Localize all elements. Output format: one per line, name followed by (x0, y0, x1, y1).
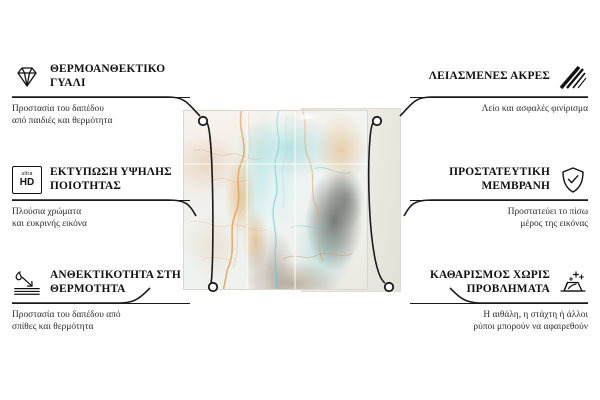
feature-title: ΘΕΡΜΟΑΝΘΕΚΤΙΚΟ ΓΥΑΛΙ (50, 63, 190, 90)
feature-divider (12, 97, 190, 98)
flame-surface-icon (12, 268, 42, 298)
infographic-page: ΘΕΡΜΟΑΝΘΕΚΤΙΚΟ ΓΥΑΛΙ Προστασία του δαπέδ… (0, 0, 600, 400)
feature-title: ΑΝΘΕΚΤΙΚΟΤΗΤΑ ΣΤΗ ΘΕΡΜΟΤΗΤΑ (50, 269, 190, 296)
feature-protective-membrane: ΠΡΟΣΤΑΤΕΥΤΙΚΗ ΜΕΜΒΡΑΝΗ Προστατεύει το πί… (410, 163, 588, 230)
glass-reflection-line (184, 163, 367, 165)
feature-title: ΚΑΘΑΡΙΣΜΟΣ ΧΩΡΙΣ ΠΡΟΒΛΗΜΑΤΑ (410, 269, 550, 296)
feature-smoothed-edges: ΛΕΙΑΣΜΕΝΕΣ ΑΚΡΕΣ Λείο και ασφαλές φινίρι… (410, 60, 588, 115)
feature-header: ΑΝΘΕΚΤΙΚΟΤΗΤΑ ΣΤΗ ΘΕΡΜΟΤΗΤΑ (12, 266, 190, 300)
feature-description: Λείο και ασφαλές φινίρισμα (410, 103, 588, 115)
feature-header: ΚΑΘΑΡΙΣΜΟΣ ΧΩΡΙΣ ΠΡΟΒΛΗΜΑΤΑ (410, 266, 588, 300)
shield-check-icon (558, 165, 588, 195)
feature-header: ultra HD ΕΚΤΥΠΩΣΗ ΥΨΗΛΗΣ ΠΟΙΟΤΗΤΑΣ (12, 163, 190, 197)
feature-description: Προστατεύει το πίσωμέρος της εικόνας (410, 206, 588, 230)
feature-heat-durability: ΑΝΘΕΚΤΙΚΟΤΗΤΑ ΣΤΗ ΘΕΡΜΟΤΗΤΑ Προστασία το… (12, 266, 190, 333)
feature-title: ΠΡΟΣΤΑΤΕΥΤΙΚΗ ΜΕΜΒΡΑΝΗ (410, 166, 550, 193)
feature-high-quality-print: ultra HD ΕΚΤΥΠΩΣΗ ΥΨΗΛΗΣ ΠΟΙΟΤΗΤΑΣ Πλούσ… (12, 163, 190, 230)
glass-reflection-line (294, 111, 296, 289)
feature-description: Προστασία του δαπέδου απόσπίθες και θερμ… (12, 309, 190, 333)
feature-heat-resistant-glass: ΘΕΡΜΟΑΝΘΕΚΤΙΚΟ ΓΥΑΛΙ Προστασία του δαπέδ… (12, 60, 190, 127)
feature-description: Η αιθάλη, η στάχτη ή άλλοιρύποι μπορούν … (410, 309, 588, 333)
feature-header: ΛΕΙΑΣΜΕΝΕΣ ΑΚΡΕΣ (410, 60, 588, 94)
diamond-icon (12, 62, 42, 92)
feature-divider (410, 200, 588, 201)
feature-easy-cleaning: ΚΑΘΑΡΙΣΜΟΣ ΧΩΡΙΣ ΠΡΟΒΛΗΜΑΤΑ Η αιθάλη, η … (410, 266, 588, 333)
feature-description: Προστασία του δαπέδουαπό παιδιές και θερ… (12, 103, 190, 127)
glass-highlight (294, 113, 320, 121)
feature-divider (410, 303, 588, 304)
glass-reflection-line (246, 111, 248, 289)
feature-header: ΘΕΡΜΟΑΝΘΕΚΤΙΚΟ ΓΥΑΛΙ (12, 60, 190, 94)
diagonal-stripes-icon (558, 62, 588, 92)
sponge-sparkle-icon (558, 268, 588, 298)
feature-title: ΛΕΙΑΣΜΕΝΕΣ ΑΚΡΕΣ (410, 70, 550, 84)
ultra-hd-icon: ultra HD (12, 165, 42, 195)
feature-title: ΕΚΤΥΠΩΣΗ ΥΨΗΛΗΣ ΠΟΙΟΤΗΤΑΣ (50, 166, 190, 193)
feature-divider (12, 200, 190, 201)
feature-divider (12, 303, 190, 304)
feature-header: ΠΡΟΣΤΑΤΕΥΤΙΚΗ ΜΕΜΒΡΑΝΗ (410, 163, 588, 197)
product-image (183, 110, 398, 290)
artwork-veins (184, 111, 367, 289)
product-glass-panel (183, 110, 368, 290)
feature-description: Πλούσια χρώματακαι ευκρινής εικόνα (12, 206, 190, 230)
feature-divider (410, 97, 588, 98)
